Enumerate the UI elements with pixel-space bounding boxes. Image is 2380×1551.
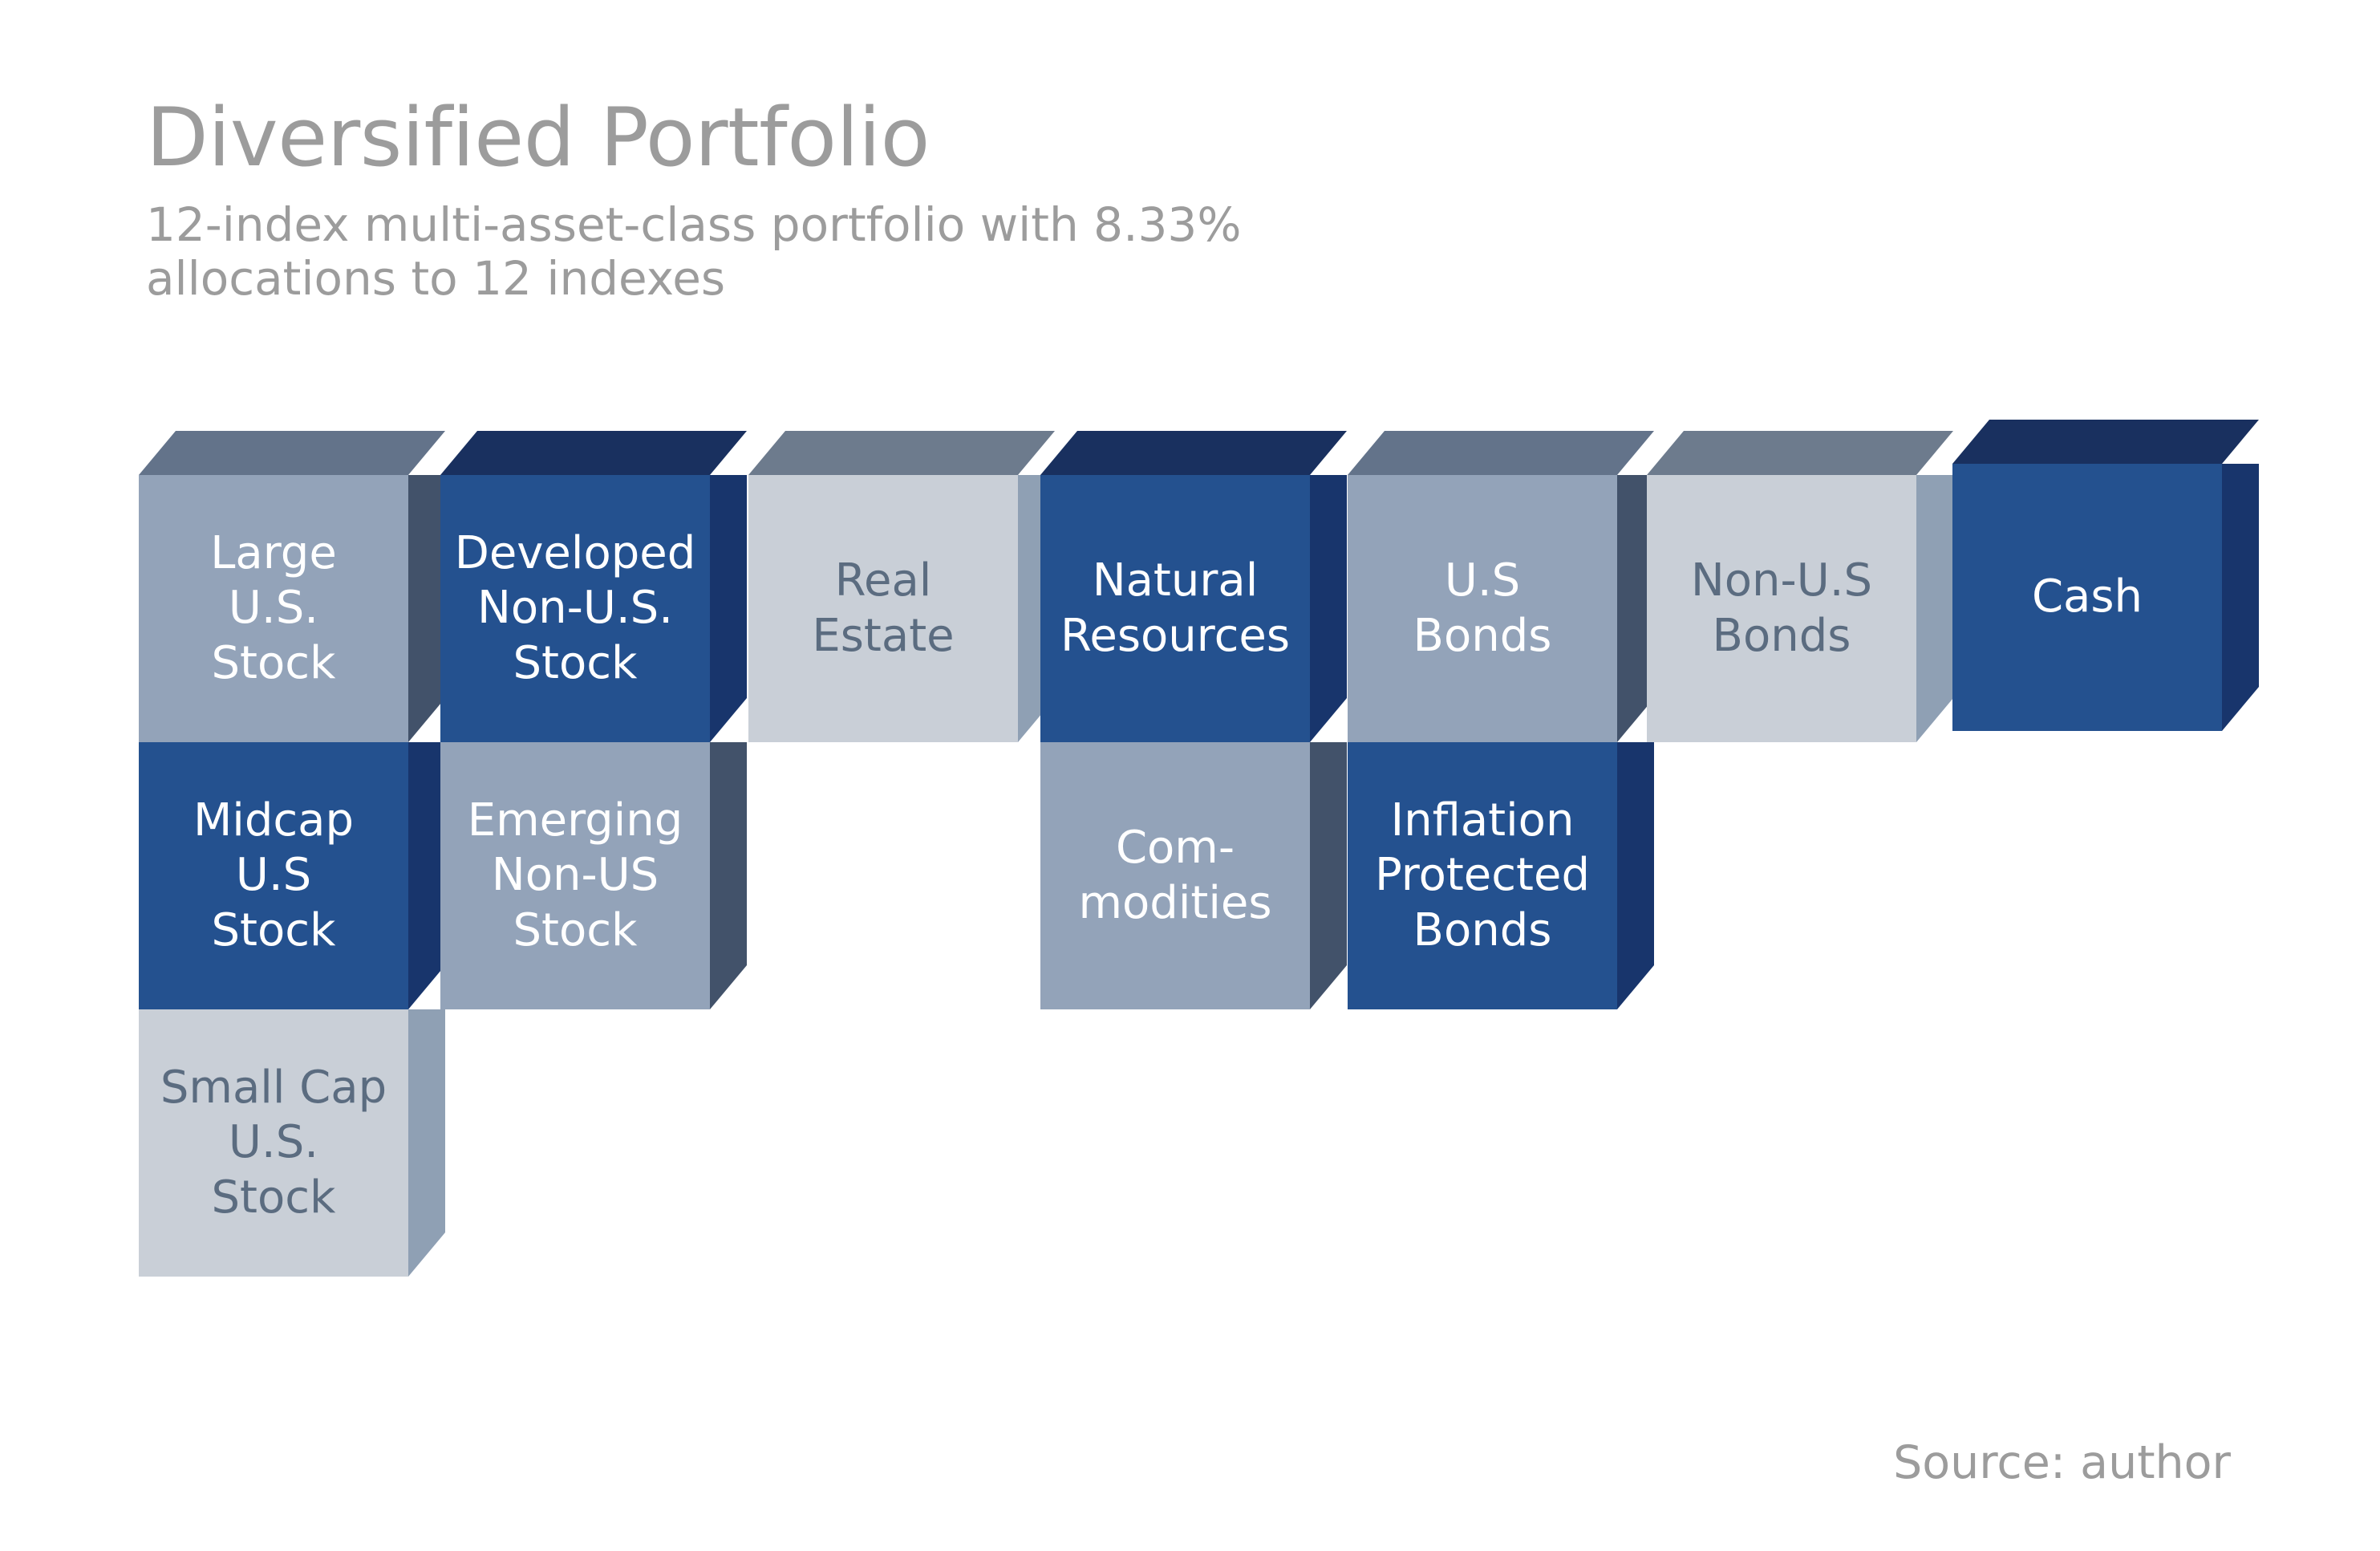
cube-label-line: Com- <box>1116 822 1235 874</box>
cube-side-face <box>1617 742 1654 1009</box>
cube-front-face: NaturalResources <box>1040 475 1310 742</box>
cube-label-line: Developed <box>455 527 696 579</box>
cube-label-line: Bonds <box>1413 904 1552 956</box>
cube-label-line: Resources <box>1060 610 1290 662</box>
cube-label-line: Real <box>835 554 932 607</box>
cube-top-face <box>748 431 1055 475</box>
cube-label-line: Large <box>210 527 337 579</box>
cube-label-line: U.S. <box>229 582 318 634</box>
portfolio-cube-diagram: LargeU.S.StockMidcapU.SStockSmall CapU.S… <box>0 0 2380 1551</box>
cube-label-line: Stock <box>513 904 638 956</box>
cube-front-face: EmergingNon-USStock <box>440 742 710 1009</box>
cube-label-line: U.S <box>236 849 311 901</box>
source-note: Source: author <box>1893 1436 2231 1489</box>
cube-label-line: Stock <box>212 637 336 689</box>
cube-label: Com-modities <box>1048 821 1302 931</box>
cube-label: Small CapU.S.Stock <box>147 1061 400 1225</box>
cube-label: MidcapU.SStock <box>147 794 400 958</box>
cube-front-face: Non-U.SBonds <box>1647 475 1916 742</box>
cube-label-line: Stock <box>212 1171 336 1224</box>
cube-label: Non-U.SBonds <box>1655 554 1908 664</box>
cube-label-line: Natural <box>1093 554 1259 607</box>
cube-front-face: DevelopedNon-U.S.Stock <box>440 475 710 742</box>
cube-side-face <box>1310 742 1347 1009</box>
cube-side-face <box>710 742 747 1009</box>
cube-side-face <box>1916 475 1953 742</box>
cube-label-line: Non-U.S. <box>477 582 673 634</box>
cube-top-face <box>440 431 747 475</box>
cube-side-face <box>710 475 747 742</box>
cube-front-face: MidcapU.SStock <box>139 742 408 1009</box>
cube-label-line: Inflation <box>1391 794 1575 847</box>
cube-label-line: Estate <box>812 610 954 662</box>
cube-label-line: Stock <box>212 904 336 956</box>
cube-top-face <box>1040 431 1347 475</box>
cube-front-face: Com-modities <box>1040 742 1310 1009</box>
cube-front-face: U.SBonds <box>1348 475 1617 742</box>
cube-label-line: modities <box>1078 877 1271 929</box>
cube-top-face <box>139 431 445 475</box>
cube-label: Cash <box>1960 570 2214 624</box>
cube-front-face: RealEstate <box>748 475 1018 742</box>
cube-label-line: Cash <box>2032 570 2143 623</box>
cube-label-line: U.S <box>1445 554 1520 607</box>
cube-top-face <box>1952 420 2259 464</box>
cube-side-face <box>1310 475 1347 742</box>
cube-label: NaturalResources <box>1048 554 1302 664</box>
cube-side-face <box>2222 464 2259 731</box>
cube-label: LargeU.S.Stock <box>147 526 400 691</box>
cube-label-line: Bonds <box>1713 610 1851 662</box>
cube-front-face: Cash <box>1952 464 2222 731</box>
cube-label-line: Protected <box>1375 849 1590 901</box>
cube-label-line: Non-U.S <box>1691 554 1872 607</box>
cube-front-face: InflationProtectedBonds <box>1348 742 1617 1009</box>
cube-label-line: Emerging <box>468 794 683 847</box>
cube-front-face: Small CapU.S.Stock <box>139 1009 408 1277</box>
cube-label: EmergingNon-USStock <box>448 794 702 958</box>
cube-top-face <box>1348 431 1654 475</box>
cube-label-line: U.S. <box>229 1116 318 1168</box>
cube-label: U.SBonds <box>1356 554 1609 664</box>
cube-label-line: Stock <box>513 637 638 689</box>
cube-label: RealEstate <box>756 554 1010 664</box>
cube-label: DevelopedNon-U.S.Stock <box>448 526 702 691</box>
cube-label-line: Non-US <box>492 849 659 901</box>
cube-front-face: LargeU.S.Stock <box>139 475 408 742</box>
cube-top-face <box>1647 431 1953 475</box>
cube-side-face <box>408 1009 445 1277</box>
cube-label-line: Midcap <box>193 794 354 847</box>
cube-label-line: Bonds <box>1413 610 1552 662</box>
cube-label-line: Small Cap <box>160 1062 387 1114</box>
cube-label: InflationProtectedBonds <box>1356 794 1609 958</box>
